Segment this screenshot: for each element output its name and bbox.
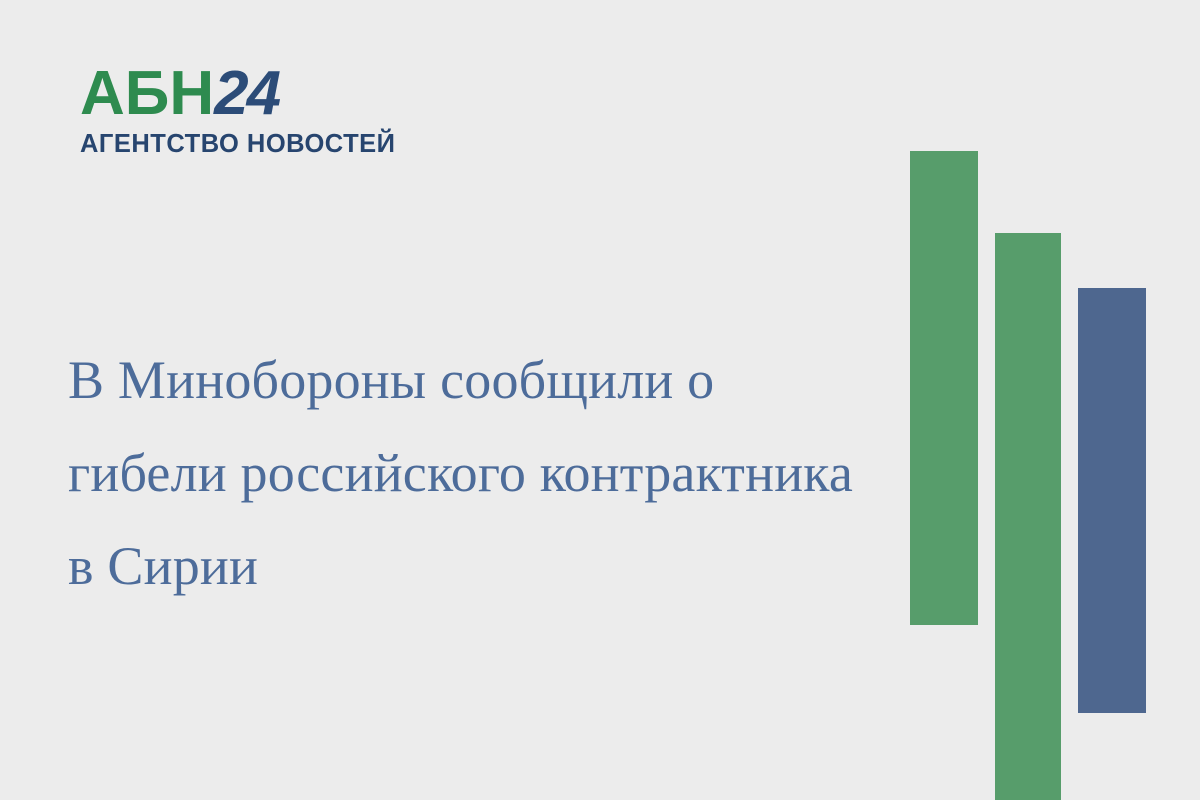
news-card: АБН24 АГЕНТСТВО НОВОСТЕЙ В Минобороны со… — [0, 0, 1200, 800]
logo-tagline: АГЕНТСТВО НОВОСТЕЙ — [80, 130, 380, 158]
brand-logo[interactable]: АБН24 АГЕНТСТВО НОВОСТЕЙ — [80, 62, 380, 162]
logo-abn-text: АБН — [80, 59, 214, 128]
headline-title: В Минобороны сообщили о гибели российско… — [68, 334, 878, 613]
logo-24-text: 24 — [214, 59, 279, 128]
decorative-bar-tall-green — [910, 151, 978, 625]
decorative-bar-short-blue — [1078, 288, 1146, 713]
logo-wordmark: АБН24 — [80, 62, 380, 126]
decorative-bar-mid-green — [995, 233, 1061, 800]
